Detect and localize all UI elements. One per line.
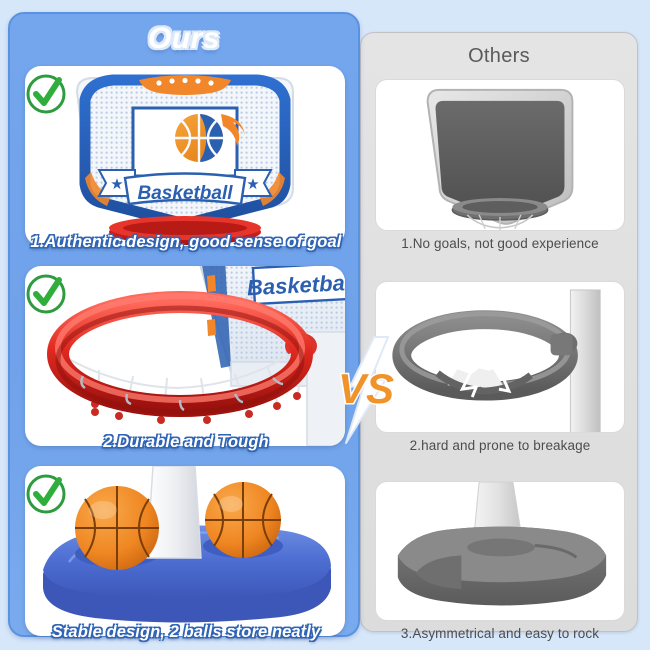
svg-text:Basketball: Basketball <box>246 270 345 301</box>
others-caption-1: 1.No goals, not good experience <box>361 236 639 251</box>
others-card-1 <box>375 79 625 231</box>
comparison-infographic: Others 1.No goa <box>0 0 650 650</box>
others-caption-2: 2.hard and prone to breakage <box>361 438 639 453</box>
blue-base-with-two-basketballs-image <box>25 466 345 636</box>
others-panel-title: Others <box>361 45 637 68</box>
svg-text:★: ★ <box>110 175 123 193</box>
others-panel: Others 1.No goa <box>360 32 638 632</box>
gray-plastic-cracked-rim-image <box>376 282 624 433</box>
versus-badge: VS <box>330 335 402 445</box>
gray-plain-backboard-image <box>376 80 624 231</box>
others-card-3 <box>375 481 625 621</box>
green-check-circle-icon <box>23 71 69 117</box>
svg-text:Basketball: Basketball <box>137 183 233 204</box>
lightning-bolt-icon: VS <box>330 335 402 445</box>
gray-asymmetrical-base-image <box>376 482 624 621</box>
others-card-2 <box>375 281 625 433</box>
ours-card-3 <box>25 466 345 636</box>
others-caption-3: 3.Asymmetrical and easy to rock <box>361 626 639 641</box>
ours-card-2: Basketball <box>25 266 345 446</box>
green-check-circle-icon <box>23 471 69 517</box>
green-check-circle-icon <box>23 271 69 317</box>
versus-label: VS <box>338 365 394 412</box>
svg-text:★: ★ <box>246 175 259 193</box>
basketball-backboard-hoop-image: ★ ★ Basketball <box>25 66 345 246</box>
ours-panel-title: Ours <box>10 22 358 56</box>
ours-panel: Ours <box>8 12 360 637</box>
ours-card-1: ★ ★ Basketball <box>25 66 345 246</box>
red-steel-rim-with-net-image: Basketball <box>25 266 345 446</box>
